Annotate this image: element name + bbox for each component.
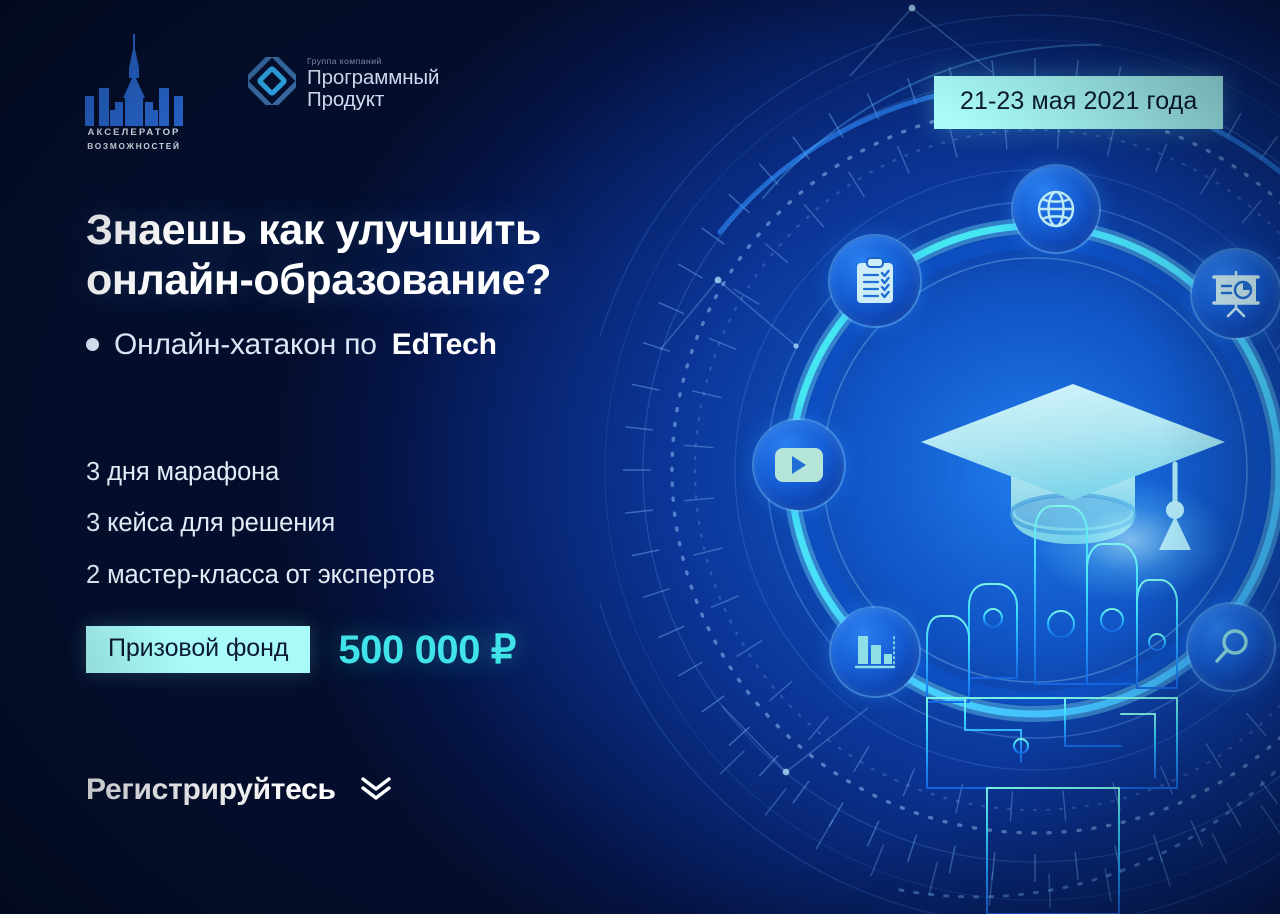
prize-amount: 500 000 ₽ — [338, 627, 516, 673]
video-play-icon[interactable] — [754, 420, 844, 510]
logo-group: АКСЕЛЕРАТОР ВОЗМОЖНОСТЕЙ Группа компаний… — [78, 34, 439, 152]
accelerator-logo: АКСЕЛЕРАТОР ВОЗМОЖНОСТЕЙ — [78, 34, 190, 152]
company-name-line2: Продукт — [307, 89, 439, 111]
subtitle: Онлайн-хатакон по EdTech — [86, 328, 686, 362]
subtitle-highlight: EdTech — [392, 328, 497, 362]
bullet-dot-icon — [86, 338, 99, 351]
company-name-line1: Программный — [307, 67, 439, 89]
company-logo: Группа компаний Программный Продукт — [248, 56, 439, 110]
list-item: 3 кейса для решения — [86, 511, 686, 537]
accelerator-line1: АКСЕЛЕРАТОР — [87, 126, 180, 140]
presentation-icon[interactable] — [1192, 250, 1280, 338]
double-chevron-down-icon[interactable] — [358, 772, 394, 807]
register-cta[interactable]: Регистрируйтесь — [86, 772, 686, 807]
headline-line2: онлайн-образование? — [86, 255, 686, 305]
register-label: Регистрируйтесь — [86, 773, 336, 807]
prize-fund-badge: Призовой фонд — [86, 626, 310, 673]
bar-chart-icon[interactable] — [831, 608, 919, 696]
content-column: Знаешь как улучшить онлайн-образование? … — [86, 205, 686, 807]
subtitle-prefix: Онлайн-хатакон по — [114, 328, 377, 362]
facts-list: 3 дня марафона 3 кейса для решения 2 мас… — [86, 460, 686, 589]
accelerator-line2: ВОЗМОЖНОСТЕЙ — [87, 140, 180, 152]
company-kicker: Группа компаний — [307, 56, 439, 66]
headline-line1: Знаешь как улучшить — [86, 205, 686, 255]
list-item: 2 мастер-класса от экспертов — [86, 563, 686, 589]
robotic-hand-icon — [925, 488, 1215, 914]
date-badge: 21-23 мая 2021 года — [934, 76, 1223, 129]
prize-section: Призовой фонд 500 000 ₽ — [86, 626, 686, 673]
clipboard-icon[interactable] — [830, 236, 920, 326]
page-title: Знаешь как улучшить онлайн-образование? — [86, 205, 686, 306]
diamond-logo-icon — [248, 57, 296, 110]
search-icon[interactable] — [1188, 604, 1274, 690]
promo-poster: АКСЕЛЕРАТОР ВОЗМОЖНОСТЕЙ Группа компаний… — [0, 0, 1280, 914]
globe-icon[interactable] — [1013, 166, 1099, 252]
msu-building-icon — [81, 34, 187, 126]
list-item: 3 дня марафона — [86, 460, 686, 486]
